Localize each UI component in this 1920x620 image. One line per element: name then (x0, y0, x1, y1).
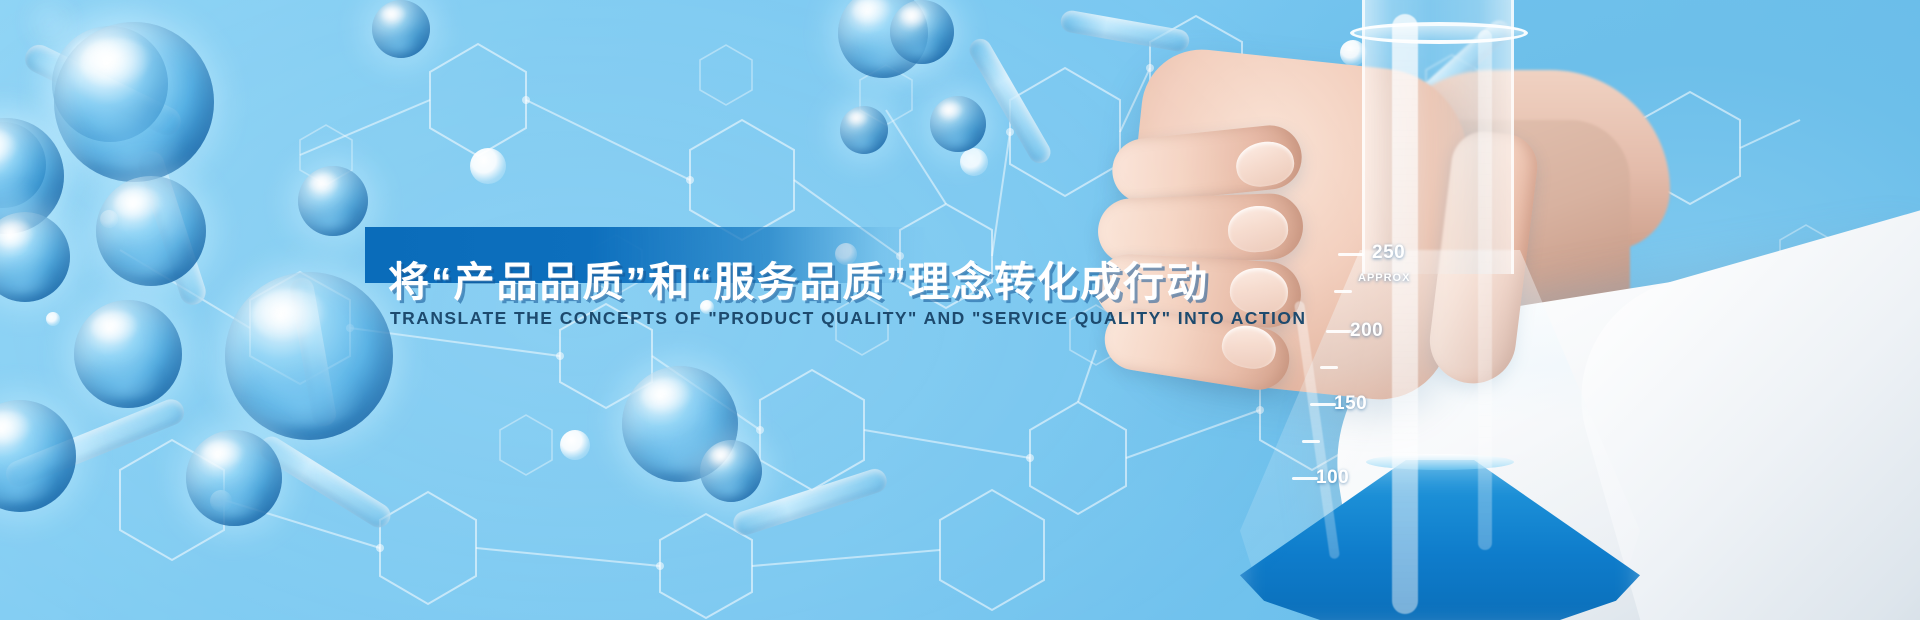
glow-dot (100, 210, 118, 228)
glow-dot (1630, 178, 1654, 202)
molecule-bond (135, 148, 209, 308)
hero-banner: 250 APPROX 200 150 100 将“产品品质”和“服务品质”理念转… (0, 0, 1920, 620)
page-title: 将“产品品质”和“服务品质”理念转化成行动 (388, 255, 1209, 309)
molecule-sphere (838, 0, 928, 78)
flask-graduation-label-200: 200 (1350, 320, 1383, 342)
erlenmeyer-flask-body (1240, 250, 1640, 610)
glow-dot (960, 148, 988, 176)
blue-liquid (1240, 460, 1640, 620)
molecule-sphere (0, 118, 64, 234)
flask-graduation-label-100: 100 (1316, 467, 1349, 489)
molecule-bond (2, 395, 188, 490)
molecule-sphere (700, 440, 762, 502)
molecule-bond (965, 35, 1054, 167)
fingernail (1233, 137, 1298, 190)
glow-dot (1372, 100, 1388, 116)
liquid-surface (1366, 454, 1514, 470)
flask-highlight (1478, 30, 1492, 550)
fingernail (1226, 204, 1289, 254)
flask-graduation-label-250: 250 (1372, 242, 1405, 264)
molecule-bond (255, 432, 395, 532)
molecule-sphere (890, 0, 954, 64)
graduation-mark (1302, 440, 1320, 443)
molecule-bond (730, 466, 890, 538)
glow-dot (210, 490, 232, 512)
molecule-sphere (840, 106, 888, 154)
molecule-sphere (298, 166, 368, 236)
molecule-sphere (0, 212, 70, 302)
flask-rim (1350, 22, 1528, 44)
molecule-sphere (54, 22, 214, 182)
molecule-sphere (225, 272, 393, 440)
molecule-bond (1305, 69, 1475, 175)
molecule-bond (20, 40, 185, 140)
glow-dot (1340, 40, 1366, 66)
finger (1109, 122, 1305, 206)
lab-coat-shoulder (1316, 238, 1920, 620)
molecule-sphere (74, 300, 182, 408)
glow-dot (46, 312, 60, 326)
graduation-mark (1310, 403, 1336, 406)
molecule-sphere (622, 366, 738, 482)
glow-dot (470, 148, 506, 184)
molecule-bond (1059, 9, 1191, 53)
molecule-sphere (0, 400, 76, 512)
lab-coat-sleeve (1553, 200, 1920, 620)
flask-highlight (1392, 14, 1418, 614)
flask-highlight (1294, 301, 1340, 560)
graduation-mark (1320, 366, 1338, 369)
molecule-sphere (372, 0, 430, 58)
neck (1370, 120, 1630, 460)
molecule-sphere (0, 122, 46, 208)
graduation-mark (1292, 477, 1318, 480)
chin (1370, 70, 1670, 250)
molecule-sphere (96, 176, 206, 286)
fingernail (1218, 321, 1280, 373)
graduation-mark (1334, 290, 1352, 293)
glow-dot (560, 430, 590, 460)
graduation-mark (1338, 253, 1364, 256)
graduation-mark (1326, 330, 1352, 333)
flask-neck (1362, 0, 1514, 274)
page-subtitle: TRANSLATE THE CONCEPTS OF "PRODUCT QUALI… (390, 308, 1306, 329)
molecule-bond (1396, 16, 1515, 126)
molecule-bond (288, 276, 338, 428)
hand-palm (1114, 44, 1477, 407)
flask-graduation-label-150: 150 (1334, 393, 1367, 415)
molecule-sphere (186, 430, 282, 526)
glow-dot (1148, 352, 1168, 372)
thumb (1425, 128, 1541, 389)
flask-graduation-label-approx: APPROX (1358, 272, 1410, 284)
molecule-sphere (52, 26, 168, 142)
molecule-sphere (930, 96, 986, 152)
